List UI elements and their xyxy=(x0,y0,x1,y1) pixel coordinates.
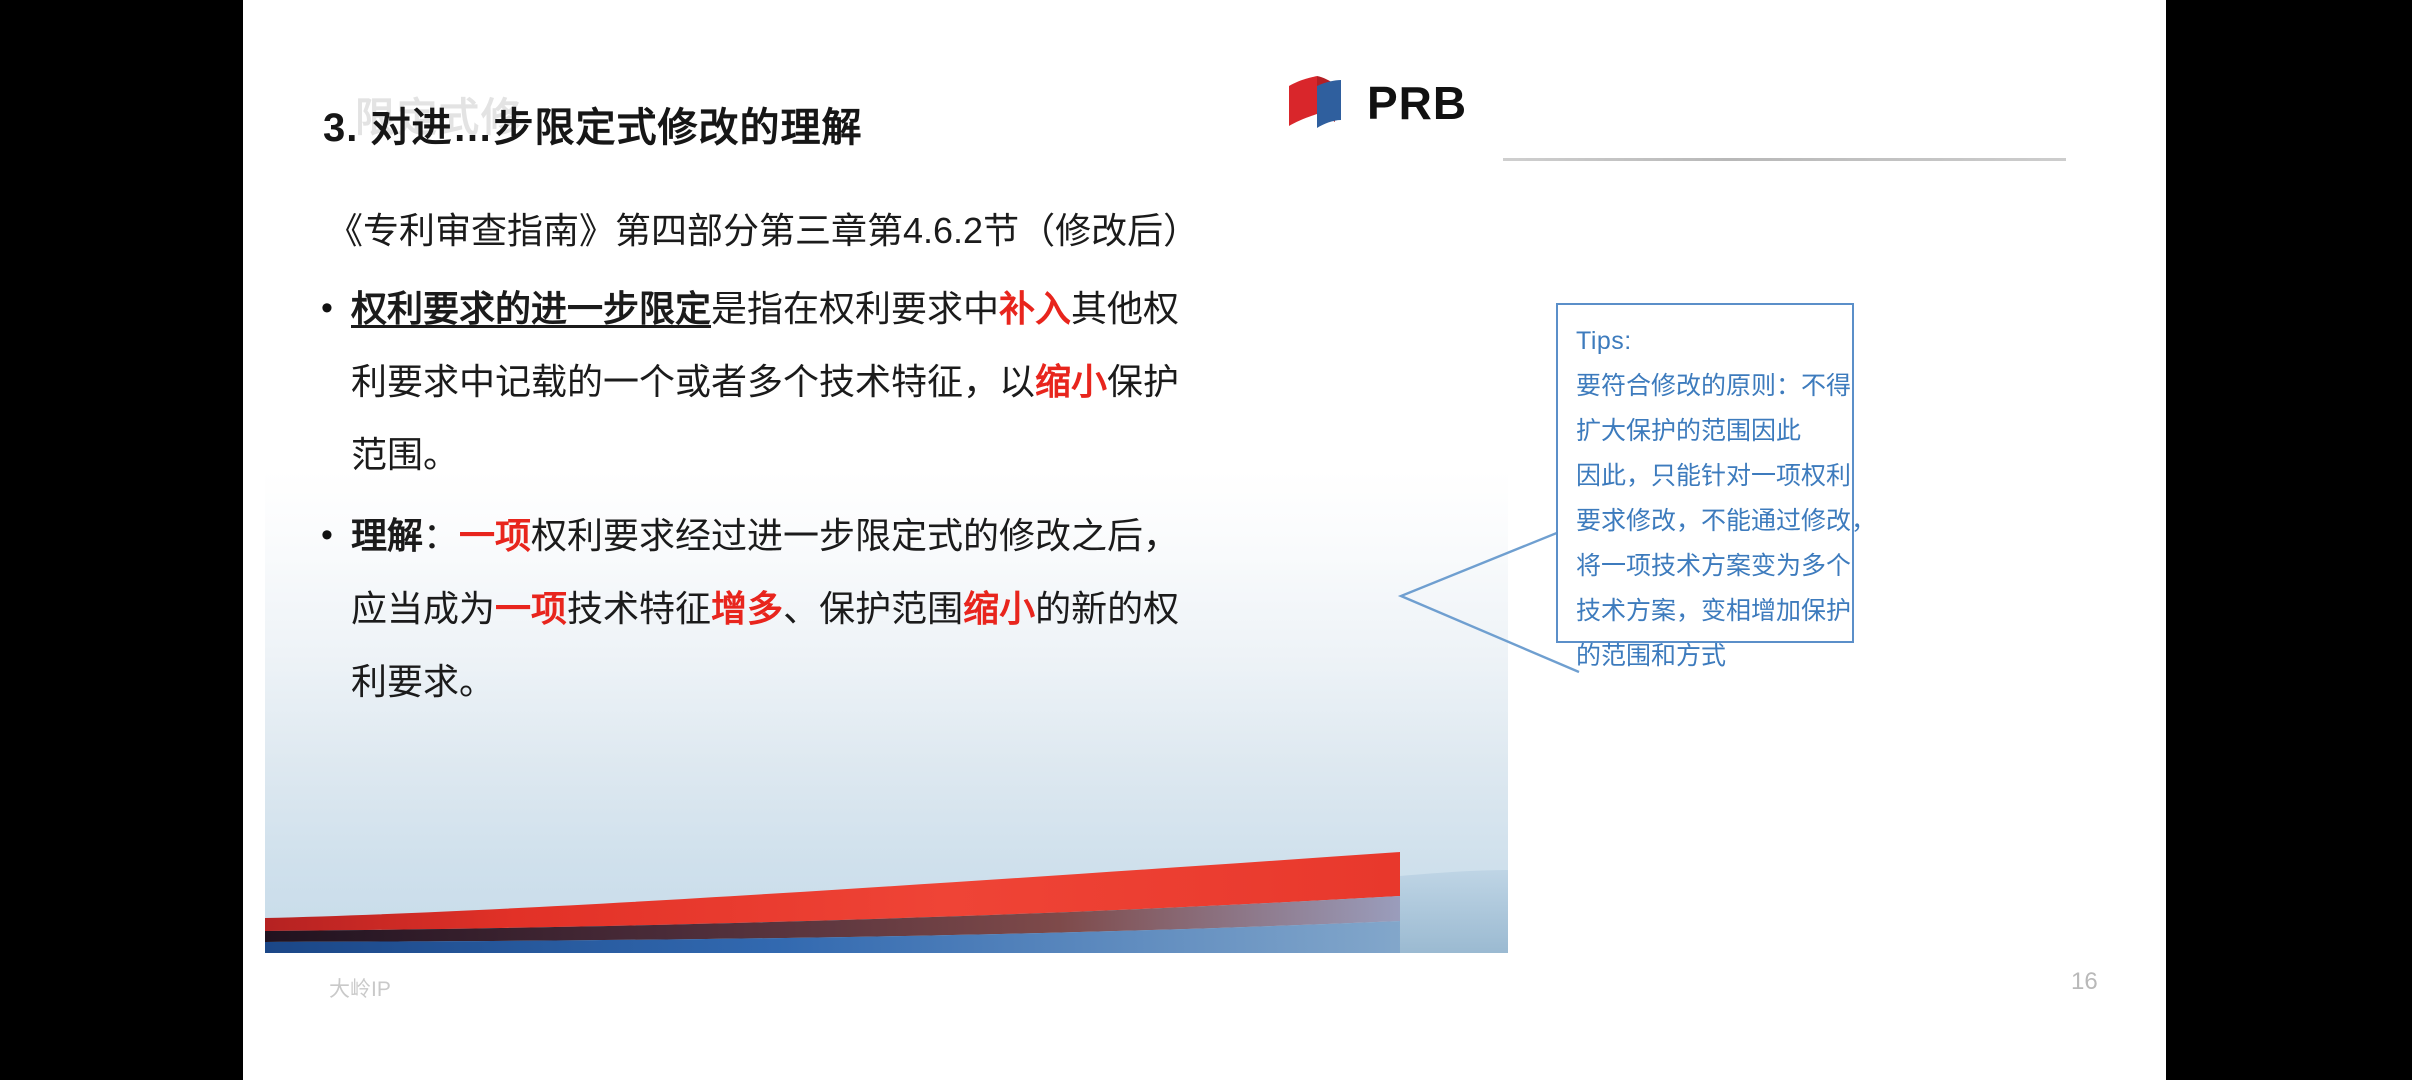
bullet-line: 权利要求的进一步限定是指在权利要求中补入其他权 xyxy=(351,272,1179,345)
tips-callout-box: Tips:要符合修改的原则：不得扩大保护的范围因此因此，只能针对一项权利要求修改… xyxy=(1556,303,1854,643)
text-run: 应当成为 xyxy=(351,588,495,629)
text-run: 其他权 xyxy=(1071,288,1179,329)
text-run: 权利要求经过进一步限定式的修改之后， xyxy=(531,515,1179,556)
page-number: 16 xyxy=(2071,968,2098,996)
bullet-marker: • xyxy=(321,499,351,572)
text-run: 利要求中记载的一个或者多个技术特征，以 xyxy=(351,361,1035,402)
text-run: 增多 xyxy=(711,588,783,629)
bullet-line: 应当成为一项技术特征增多、保护范围缩小的新的权 xyxy=(351,572,1179,645)
text-run: 缩小 xyxy=(1035,361,1107,402)
presentation-slide: 限定式修 3. 对进…步限定式修改的理解 PRB 《专利审查指南》第四部分第三章… xyxy=(243,0,2166,1080)
bullet-text: 权利要求的进一步限定是指在权利要求中补入其他权利要求中记载的一个或者多个技术特征… xyxy=(351,272,1179,491)
text-run: 理解 xyxy=(351,515,423,556)
text-run: 权利要求的进一步限定 xyxy=(351,288,711,329)
tips-line: 的范围和方式 xyxy=(1576,634,1836,679)
text-run: 补入 xyxy=(999,288,1071,329)
page-title: 3. 对进…步限定式修改的理解 xyxy=(323,95,862,153)
text-run: 是指在权利要求中 xyxy=(711,288,999,329)
tips-line: 技术方案，变相增加保护 xyxy=(1576,589,1836,634)
tips-line: 扩大保护的范围因此 xyxy=(1576,409,1836,454)
prb-logo: PRB xyxy=(1283,70,1467,136)
reference-line: 《专利审查指南》第四部分第三章第4.6.2节（修改后） xyxy=(327,202,1199,254)
tips-line: 因此，只能针对一项权利 xyxy=(1576,454,1836,499)
bullet-line: 范围。 xyxy=(351,418,1179,491)
bullet-line: 理解：一项权利要求经过进一步限定式的修改之后， xyxy=(351,499,1179,572)
slide-title-block: 限定式修 3. 对进…步限定式修改的理解 xyxy=(323,95,862,153)
tips-line: 要符合修改的原则：不得 xyxy=(1576,364,1836,409)
text-run: 的新的权 xyxy=(1035,588,1179,629)
bullet-item: •理解：一项权利要求经过进一步限定式的修改之后，应当成为一项技术特征增多、保护范… xyxy=(321,499,1461,718)
bullet-line: 利要求。 xyxy=(351,645,1179,718)
text-run: 缩小 xyxy=(963,588,1035,629)
bullet-item: •权利要求的进一步限定是指在权利要求中补入其他权利要求中记载的一个或者多个技术特… xyxy=(321,272,1461,491)
screenshot-viewport: 限定式修 3. 对进…步限定式修改的理解 PRB 《专利审查指南》第四部分第三章… xyxy=(0,0,2412,1080)
text-run: 利要求。 xyxy=(351,661,495,702)
text-run: ： xyxy=(423,515,459,556)
header-divider-rule xyxy=(1503,158,2066,161)
text-run: 技术特征 xyxy=(567,588,711,629)
logo-wordmark: PRB xyxy=(1367,76,1467,130)
tips-line: 将一项技术方案变为多个 xyxy=(1576,544,1836,589)
footer-watermark: 大岭IP xyxy=(329,973,391,1003)
decorative-swoosh-graphic xyxy=(265,800,1508,953)
text-run: 保护 xyxy=(1107,361,1179,402)
callout-pointer-icon xyxy=(1383,520,1583,720)
bullet-marker: • xyxy=(321,272,351,345)
bullet-list: •权利要求的进一步限定是指在权利要求中补入其他权利要求中记载的一个或者多个技术特… xyxy=(321,272,1461,726)
text-run: 一项 xyxy=(495,588,567,629)
text-run: 范围。 xyxy=(351,434,459,475)
tips-heading: Tips: xyxy=(1576,319,1836,364)
bullet-line: 利要求中记载的一个或者多个技术特征，以缩小保护 xyxy=(351,345,1179,418)
bullet-text: 理解：一项权利要求经过进一步限定式的修改之后，应当成为一项技术特征增多、保护范围… xyxy=(351,499,1179,718)
tips-line: 要求修改，不能通过修改， xyxy=(1576,499,1836,544)
prb-book-logo-icon xyxy=(1283,70,1349,136)
text-run: 一项 xyxy=(459,515,531,556)
text-run: 、保护范围 xyxy=(783,588,963,629)
